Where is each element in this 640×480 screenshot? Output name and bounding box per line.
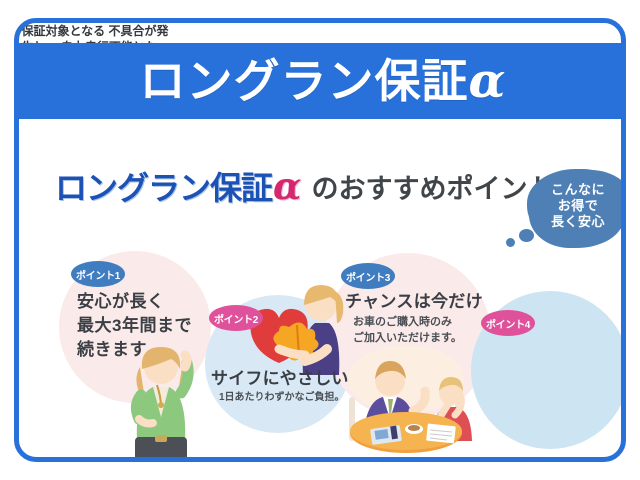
subtitle-tail: のおすすめポイント	[312, 167, 555, 206]
illustration-table-couple	[335, 345, 477, 455]
point-1-line-3: 続きます	[77, 338, 192, 362]
point-1-line-2: 最大3年間まで	[77, 314, 192, 338]
bubble-line-1: こんなに	[551, 182, 605, 198]
point-3-sub-line-2: ご加入いただけます。	[353, 330, 462, 346]
banner-title-alpha: α	[469, 53, 507, 109]
point-1-line-1: 安心が長く	[77, 290, 192, 314]
header-banner: ロングラン保証α	[14, 43, 626, 119]
point-1-badge: ポイント1	[71, 261, 125, 287]
subtitle-brand: ロングラン保証	[55, 163, 272, 209]
point-3-sub-line-1: お車のご購入時のみ	[353, 314, 462, 330]
page-title: ロングラン保証α	[140, 57, 507, 105]
thought-bubble-dot-large	[519, 229, 534, 242]
banner-title-main: ロングラン保証	[140, 55, 469, 107]
point-2-line-1: サイフにやさしい	[211, 368, 349, 390]
bubble-line-3: 長く安心	[551, 214, 605, 230]
illustration-green-woman	[123, 345, 201, 461]
illustration-heart-woman	[245, 275, 349, 379]
point-1-heading: 安心が長く 最大3年間まで 続きます	[77, 290, 192, 362]
point-2-sub-line-1: 1日あたりわずかなご負担。	[219, 391, 345, 405]
subtitle: ロングラン保証αのおすすめポイント	[55, 163, 525, 209]
point-2-heading: サイフにやさしい	[211, 368, 349, 390]
thought-bubble-dot-small	[506, 238, 515, 247]
point-3-badge: ポイント3	[341, 263, 395, 289]
poster-frame: ロングラン保証α ロングラン保証αのおすすめポイント こんなに お得で 長く安心	[14, 18, 626, 462]
point-2-subtext: 1日あたりわずかなご負担。	[219, 391, 345, 405]
point-3-line-1: チャンスは今だけ	[345, 291, 483, 313]
thought-bubble: こんなに お得で 長く安心	[527, 169, 626, 243]
point-2-badge: ポイント2	[209, 305, 263, 331]
point-4-badge: ポイント4	[481, 310, 535, 336]
point-4-line-1: 保証対象となる	[21, 24, 105, 38]
point-3-subtext: お車のご購入時のみ ご加入いただけます。	[353, 314, 462, 346]
point-3-heading: チャンスは今だけ	[345, 291, 483, 313]
bubble-line-2: お得で	[558, 198, 599, 214]
subtitle-brand-alpha: α	[273, 164, 301, 208]
